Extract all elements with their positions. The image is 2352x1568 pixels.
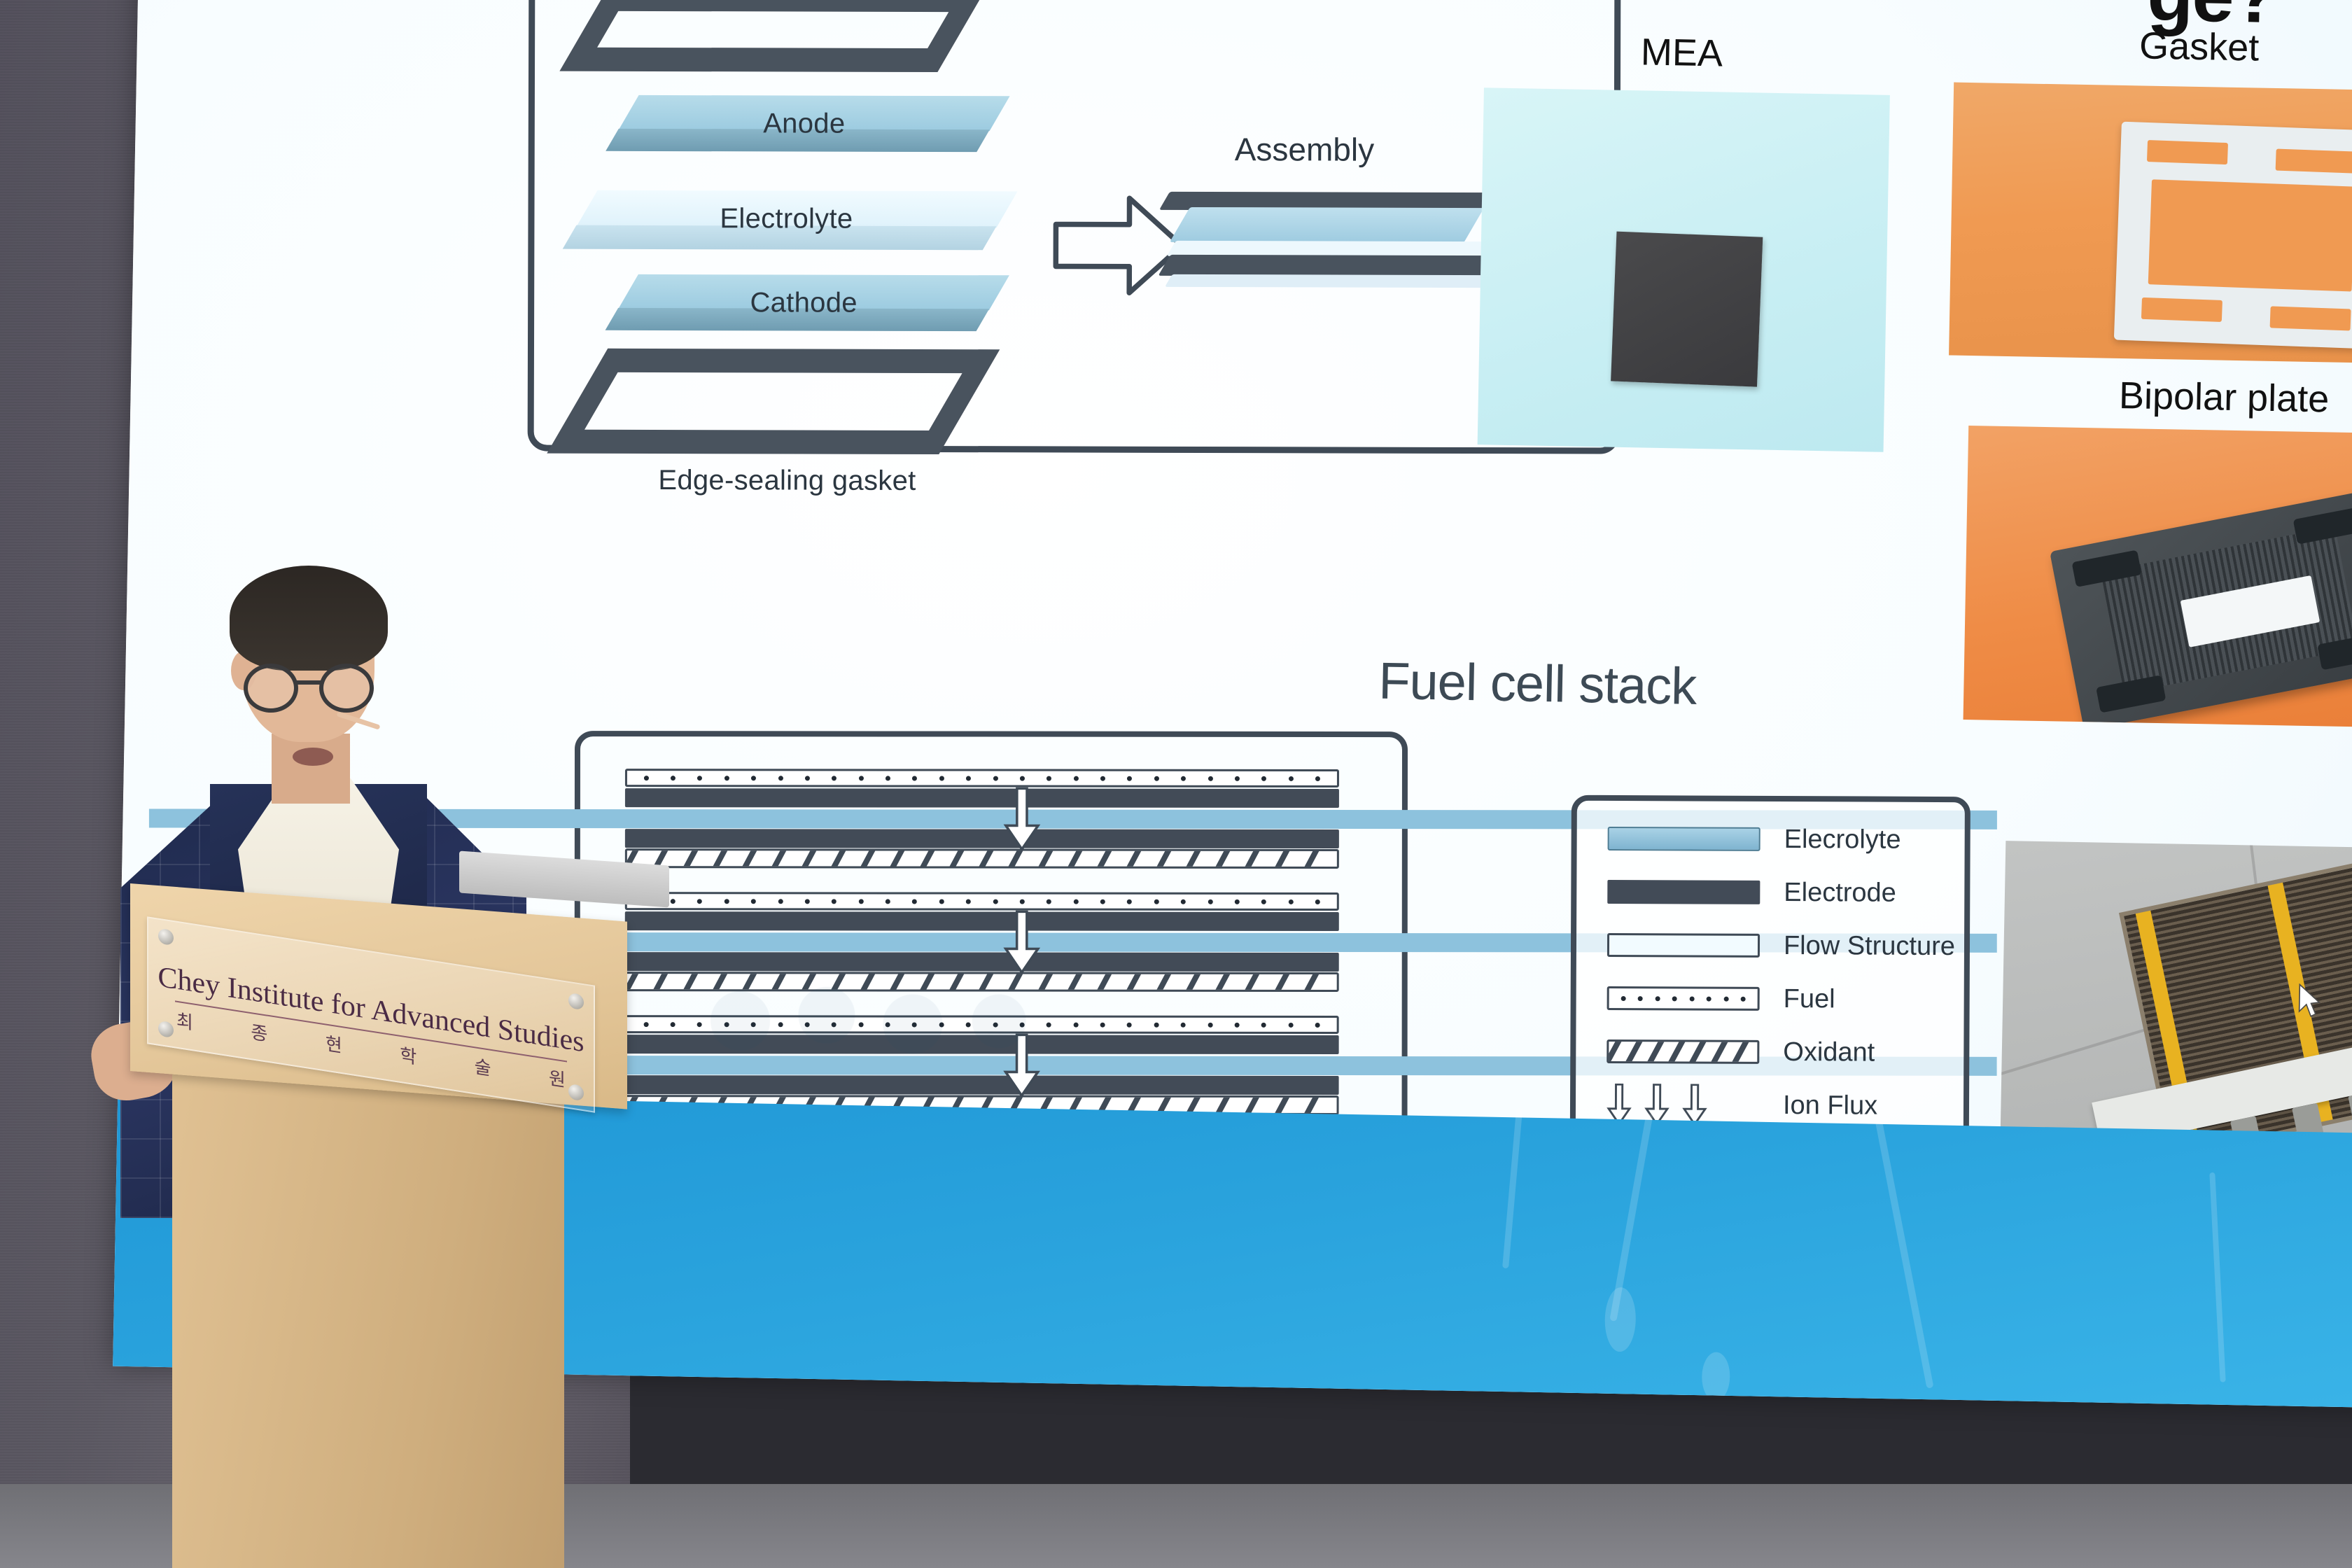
legend-label: Ion Flux	[1783, 1091, 1877, 1121]
bipolar-plate-part	[2050, 489, 2352, 727]
legend-label: Oxidant	[1783, 1037, 1875, 1068]
section-heading-fuel-cell-stack: Fuel cell stack	[1378, 651, 1697, 716]
legend-label: Elecrolyte	[1784, 825, 1901, 855]
mea-sample	[1611, 232, 1763, 387]
speaker-hair	[230, 566, 388, 671]
glasses-right-lens-icon	[319, 664, 374, 713]
screenshot-stage: ge? Edge-sealing gasket Anode Electrolyt…	[0, 0, 2352, 1568]
lectern: Chey Institute for Advanced Studies 최종현학…	[130, 883, 627, 1568]
stack-electrode-anode	[625, 788, 1339, 808]
photo-bipolar-plate	[1963, 426, 2352, 728]
exploded-view-card: Edge-sealing gasket Anode Electrolyte Ca…	[528, 0, 1621, 454]
photo-mea	[1478, 87, 1890, 452]
legend-swatch-electrolyte	[1608, 827, 1760, 851]
stack-electrode-cathode	[625, 829, 1339, 848]
stack-fuel-flow-structure	[625, 892, 1339, 911]
stack-legend: ElecrolyteElectrodeFlow StructureFuelOxi…	[1570, 795, 1970, 1154]
legend-swatch-flow-structure	[1607, 933, 1760, 958]
exploded-label-electrolyte: Electrolyte	[576, 203, 996, 236]
assembly-stack-graphic	[1164, 192, 1493, 318]
legend-label: Electrode	[1784, 878, 1896, 909]
stack-fuel-flow-structure	[625, 769, 1339, 787]
nameplate-korean-char: 원	[549, 1064, 566, 1093]
exploded-label-bottom-gasket: Edge-sealing gasket	[570, 465, 1004, 498]
exploded-label-assembly: Assembly	[1235, 130, 1375, 169]
photo-label-mea: MEA	[1640, 30, 1723, 75]
legend-row: Electrode	[1607, 871, 1950, 914]
nameplate-korean-char: 최	[176, 1007, 193, 1035]
stack-electrode-anode	[625, 911, 1339, 931]
nameplate-korean-char: 학	[400, 1041, 416, 1070]
legend-row: Oxidant	[1606, 1030, 1949, 1074]
legend-swatch-ion-flux	[1606, 1093, 1759, 1117]
exploded-label-cathode: Cathode	[618, 287, 989, 319]
mouse-cursor-icon	[2297, 983, 2321, 1019]
stack-ion-flux-arrow-icon	[1003, 787, 1041, 852]
legend-label: Fuel	[1784, 984, 1835, 1014]
legend-label: Flow Structure	[1784, 931, 1955, 962]
nameplate-korean-char: 술	[475, 1052, 491, 1081]
lectern-front-panel: Chey Institute for Advanced Studies 최종현학…	[130, 883, 627, 1109]
ion-flux-arrow-icon	[1682, 1084, 1707, 1126]
photo-gasket	[1949, 83, 2352, 364]
exploded-layer-bottom-gasket	[547, 349, 1000, 454]
photo-label-gasket: Gasket	[2139, 24, 2260, 69]
nameplate-korean-char: 현	[325, 1029, 342, 1058]
gasket-part	[2113, 121, 2352, 349]
glasses-left-lens-icon	[244, 664, 298, 713]
legend-row: Flow Structure	[1607, 924, 1950, 967]
stack-cell-unit	[625, 769, 1339, 860]
exploded-layer-top-gasket	[559, 0, 986, 72]
legend-row: Fuel	[1607, 977, 1950, 1021]
legend-row: Elecrolyte	[1608, 818, 1951, 861]
legend-swatch-oxidant	[1606, 1039, 1759, 1064]
lectern-body	[172, 1061, 564, 1568]
legend-swatch-fuel	[1607, 986, 1760, 1011]
exploded-label-anode: Anode	[619, 108, 990, 140]
legend-swatch-electrode	[1607, 880, 1760, 904]
nameplate-korean-char: 종	[251, 1018, 267, 1046]
photo-label-bipolar-plate: Bipolar plate	[2118, 374, 2329, 421]
stack-oxidant-flow-structure	[625, 848, 1339, 869]
slide-watermark	[692, 939, 1087, 1093]
